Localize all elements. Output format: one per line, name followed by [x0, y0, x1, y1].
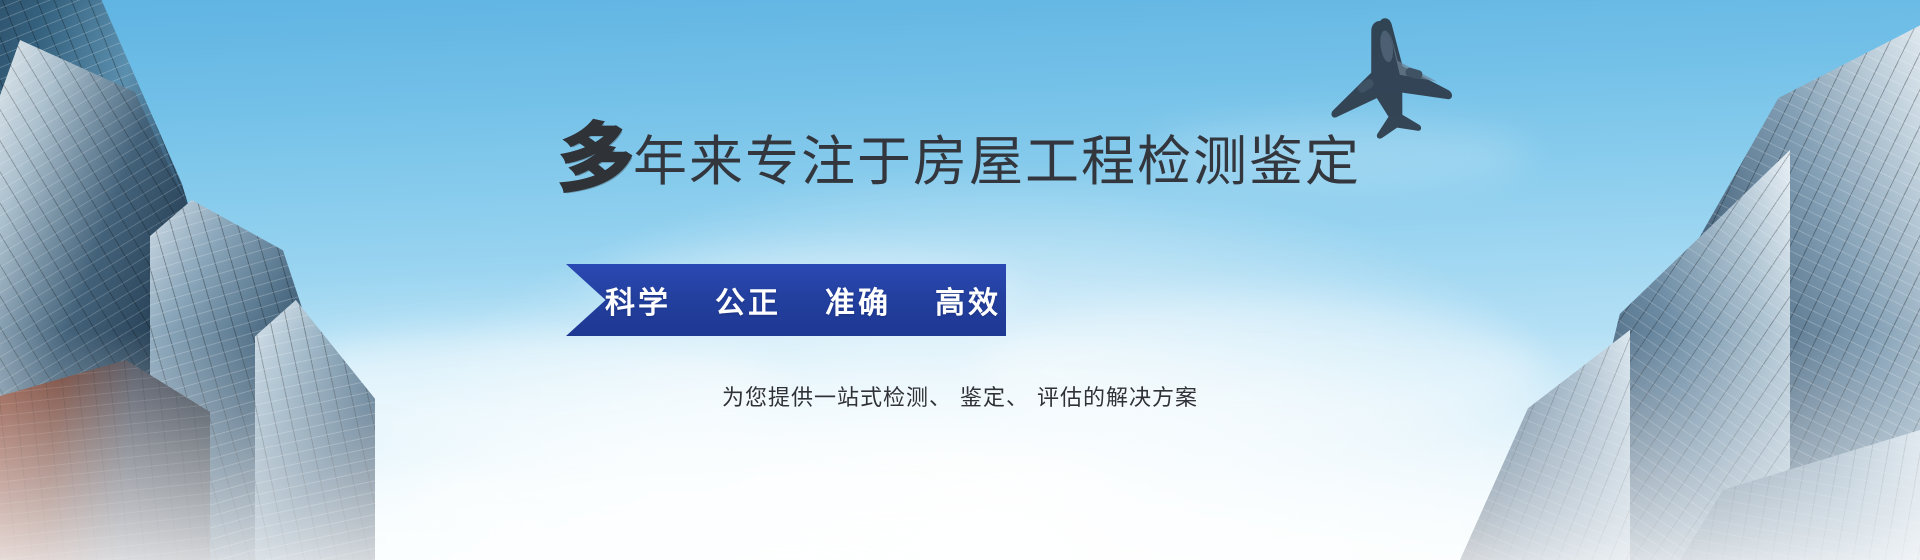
- ribbon-item-2: 公正: [715, 278, 781, 322]
- hero-banner: 多 年来专注于房屋工程检测鉴定 科学 公正 准确 高效 为您提供一站式检测、 鉴…: [0, 0, 1920, 560]
- subtitle: 为您提供一站式检测、 鉴定、 评估的解决方案: [0, 380, 1920, 412]
- value-ribbon: 科学 公正 准确 高效: [566, 264, 1006, 336]
- headline-lead-glyph: 多: [558, 122, 635, 196]
- headline-text: 年来专注于房屋工程检测鉴定: [633, 135, 1361, 192]
- ribbon-item-3: 准确: [825, 278, 891, 322]
- headline: 多 年来专注于房屋工程检测鉴定: [0, 118, 1920, 192]
- ribbon-item-1: 科学: [605, 278, 671, 322]
- atmosphere-haze: [0, 330, 1920, 560]
- ribbon-item-4: 高效: [935, 278, 1001, 322]
- value-ribbon-items: 科学 公正 准确 高效: [571, 278, 1001, 322]
